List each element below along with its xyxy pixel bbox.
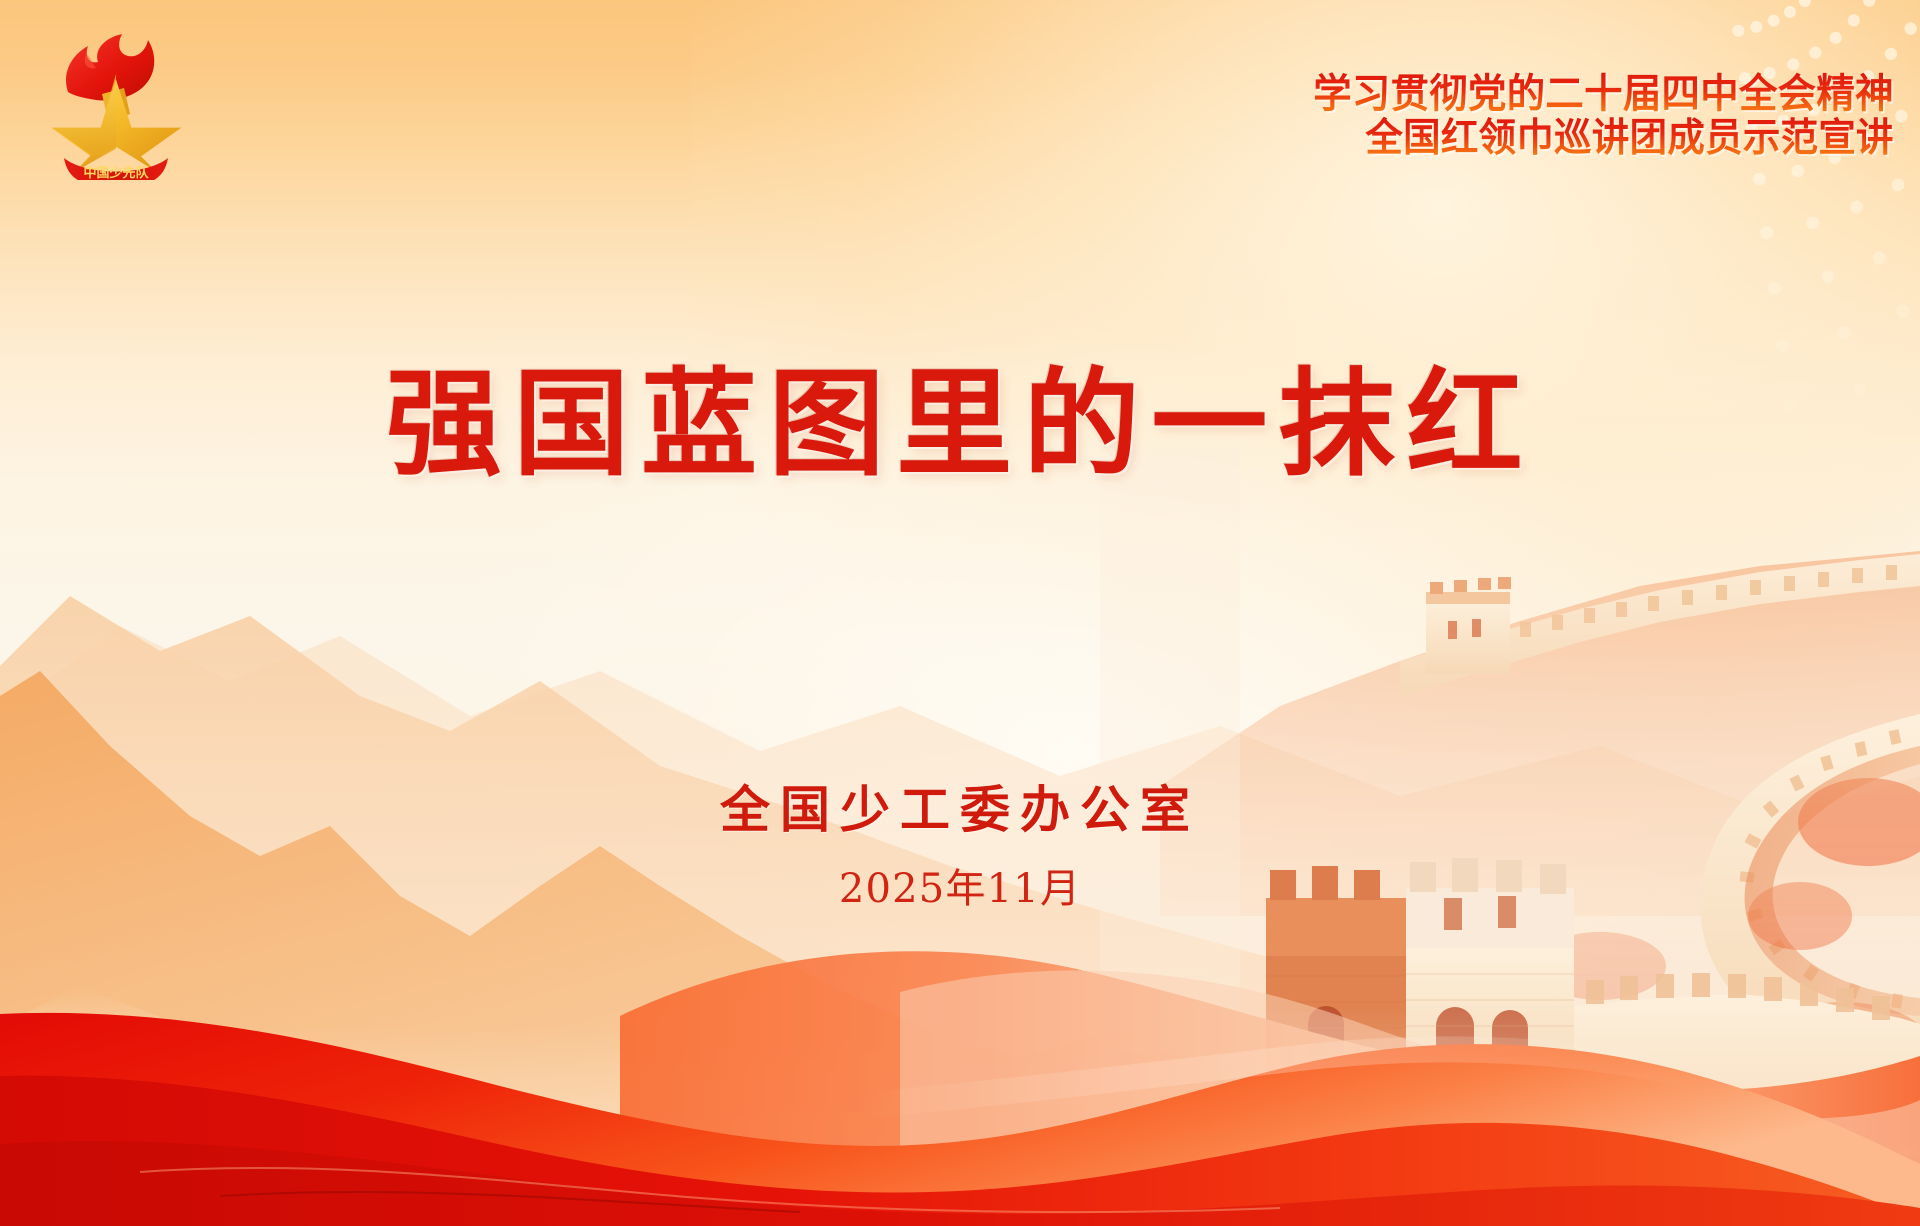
slide-canvas: 中国少先队 学习贯彻党的二十届四中全会精神 全国红领巾巡讲团成员示范宣讲 强国蓝… bbox=[0, 0, 1920, 1226]
page-title-text: 强国蓝图里的一抹红 bbox=[386, 356, 1534, 492]
page-title: 强国蓝图里的一抹红 bbox=[0, 330, 1920, 498]
far-watchtower-icon bbox=[1426, 577, 1511, 674]
china-young-pioneers-emblem-icon: 中国少先队 bbox=[46, 30, 186, 180]
header-slogan-line1: 学习贯彻党的二十届四中全会精神 bbox=[1313, 72, 1894, 117]
presenter-block: 全国少工委办公室 2025年11月 bbox=[0, 770, 1920, 914]
header-slogan-line2: 全国红领巾巡讲团成员示范宣讲 bbox=[1313, 117, 1894, 161]
presenter-date: 2025年11月 bbox=[0, 856, 1920, 914]
red-silk-ribbon-waves-illustration bbox=[0, 896, 1920, 1226]
header-slogan: 学习贯彻党的二十届四中全会精神 全国红领巾巡讲团成员示范宣讲 bbox=[1289, 72, 1894, 160]
emblem-ribbon-label: 中国少先队 bbox=[83, 165, 149, 180]
presenter-organization: 全国少工委办公室 bbox=[0, 770, 1920, 842]
